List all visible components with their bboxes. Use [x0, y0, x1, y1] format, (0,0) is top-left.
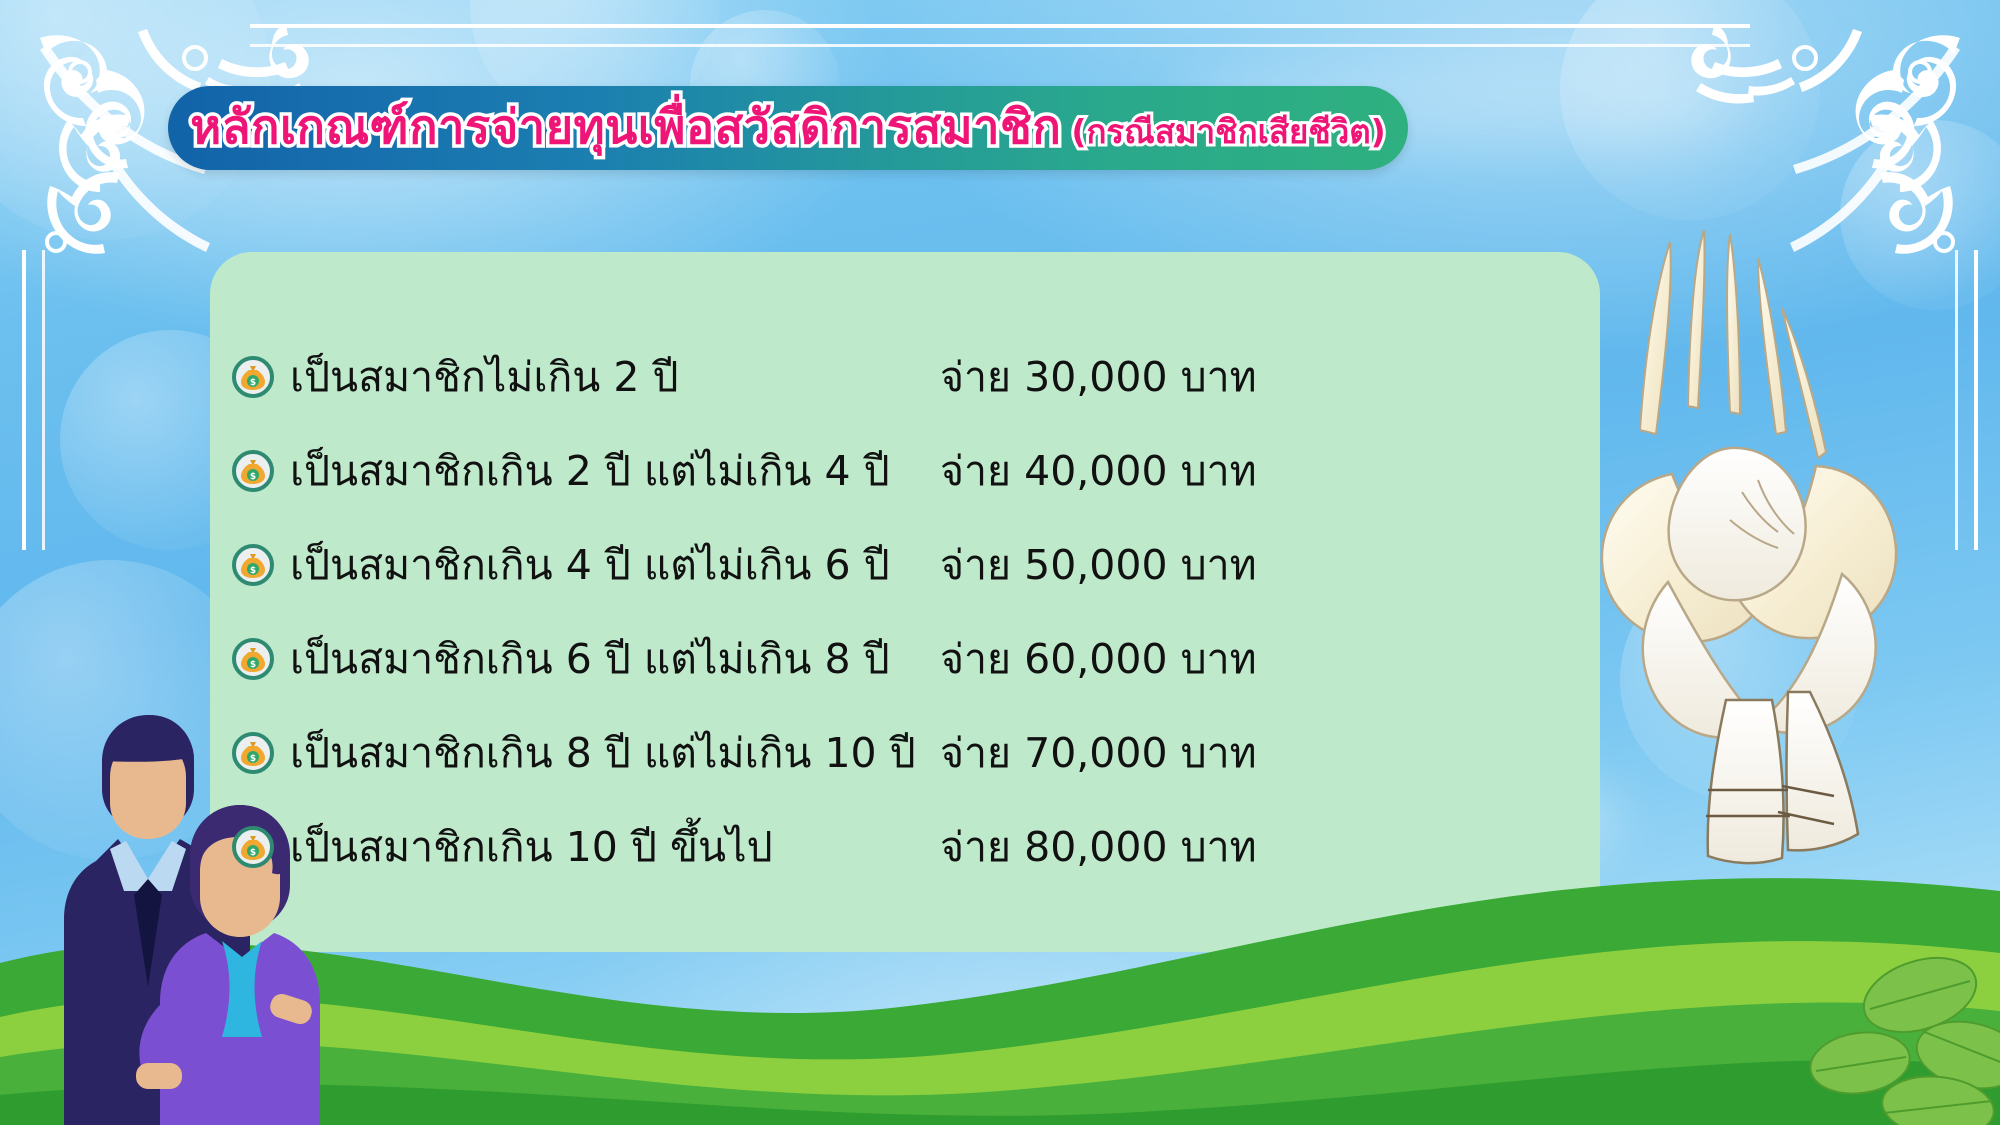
money-bag-icon: $ [232, 638, 274, 680]
frame-line-left [22, 250, 26, 550]
row-amount: จ่าย 40,000 บาท [940, 451, 1257, 492]
row-description: เป็นสมาชิกเกิน 4 ปี แต่ไม่เกิน 6 ปี [290, 545, 940, 586]
row-amount: จ่าย 50,000 บาท [940, 545, 1257, 586]
list-item[interactable]: $ เป็นสมาชิกเกิน 10 ปี ขึ้นไป จ่าย 80,00… [232, 800, 1572, 894]
benefit-rows-list: $ เป็นสมาชิกไม่เกิน 2 ปี จ่าย 30,000 บาท… [232, 330, 1572, 894]
row-amount: จ่าย 70,000 บาท [940, 733, 1257, 774]
svg-text:$: $ [250, 660, 256, 670]
title-banner: หลักเกณฑ์การจ่ายทุนเพื่อสวัสดิการสมาชิก … [168, 86, 1408, 170]
row-description: เป็นสมาชิกเกิน 2 ปี แต่ไม่เกิน 4 ปี [290, 451, 940, 492]
svg-text:$: $ [250, 754, 256, 764]
frame-line-left-inner [42, 250, 45, 550]
frame-line-right-inner [1955, 250, 1958, 550]
money-bag-icon: $ [232, 826, 274, 868]
title-main-text: หลักเกณฑ์การจ่ายทุนเพื่อสวัสดิการสมาชิก [190, 104, 1061, 151]
row-description: เป็นสมาชิกไม่เกิน 2 ปี [290, 357, 940, 398]
row-amount: จ่าย 80,000 บาท [940, 827, 1257, 868]
svg-text:$: $ [250, 378, 256, 388]
title-sub-text: (กรณีสมาชิกเสียชีวิต) [1071, 115, 1385, 148]
svg-text:$: $ [250, 472, 256, 482]
row-description: เป็นสมาชิกเกิน 6 ปี แต่ไม่เกิน 8 ปี [290, 639, 940, 680]
list-item[interactable]: $ เป็นสมาชิกเกิน 2 ปี แต่ไม่เกิน 4 ปี จ่… [232, 424, 1572, 518]
row-description: เป็นสมาชิกเกิน 8 ปี แต่ไม่เกิน 10 ปี [290, 733, 940, 774]
row-description: เป็นสมาชิกเกิน 10 ปี ขึ้นไป [290, 827, 940, 868]
svg-text:$: $ [250, 566, 256, 576]
frame-line-top-inner [250, 44, 1750, 47]
list-item[interactable]: $ เป็นสมาชิกเกิน 4 ปี แต่ไม่เกิน 6 ปี จ่… [232, 518, 1572, 612]
list-item[interactable]: $ เป็นสมาชิกเกิน 8 ปี แต่ไม่เกิน 10 ปี จ… [232, 706, 1572, 800]
svg-text:$: $ [250, 848, 256, 858]
list-item[interactable]: $ เป็นสมาชิกไม่เกิน 2 ปี จ่าย 30,000 บาท [232, 330, 1572, 424]
page-title: หลักเกณฑ์การจ่ายทุนเพื่อสวัสดิการสมาชิก … [190, 104, 1386, 151]
money-bag-icon: $ [232, 356, 274, 398]
frame-line-top [250, 24, 1750, 28]
list-item[interactable]: $ เป็นสมาชิกเกิน 6 ปี แต่ไม่เกิน 8 ปี จ่… [232, 612, 1572, 706]
row-amount: จ่าย 30,000 บาท [940, 357, 1257, 398]
poster-canvas: หลักเกณฑ์การจ่ายทุนเพื่อสวัสดิการสมาชิก … [0, 0, 2000, 1125]
money-bag-icon: $ [232, 732, 274, 774]
row-amount: จ่าย 60,000 บาท [940, 639, 1257, 680]
money-bag-icon: $ [232, 544, 274, 586]
frame-line-right [1974, 250, 1978, 550]
money-bag-icon: $ [232, 450, 274, 492]
